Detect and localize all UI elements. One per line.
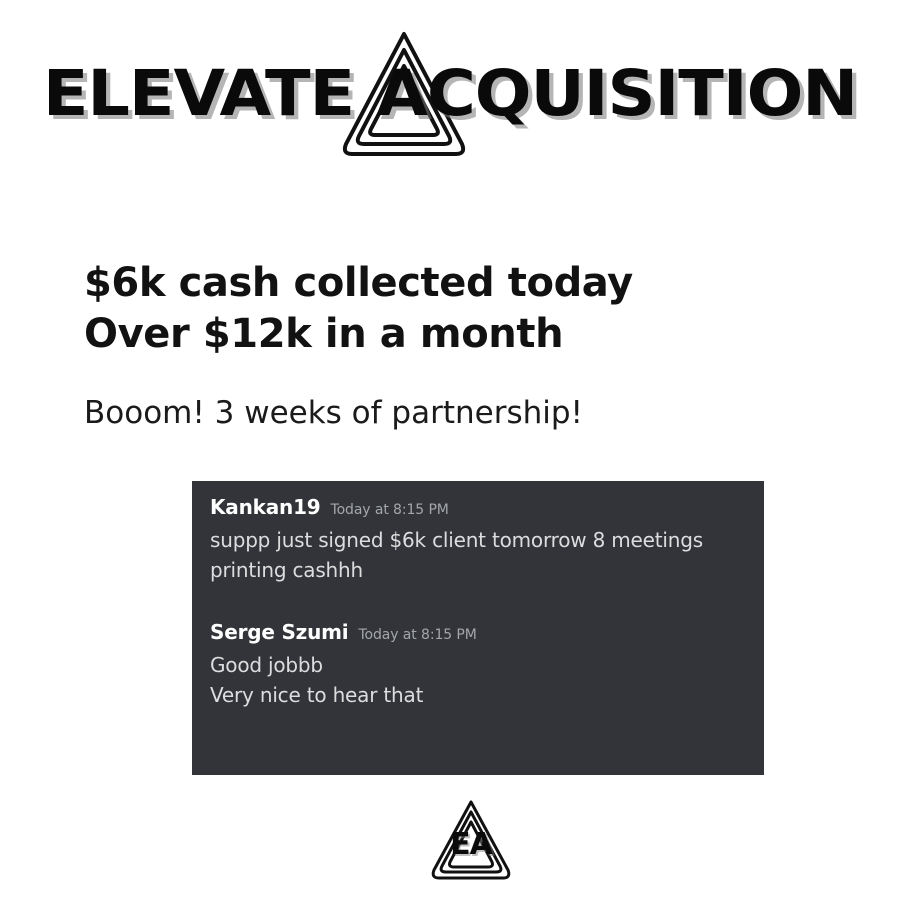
chat-message-group: Kankan19 Today at 8:15 PM suppp just sig… (210, 495, 746, 586)
headline: $6k cash collected today Over $12k in a … (84, 258, 633, 360)
chat-message-header: Kankan19 Today at 8:15 PM (210, 495, 746, 519)
chat-screenshot-panel: Kankan19 Today at 8:15 PM suppp just sig… (192, 481, 764, 775)
brand-wordmark: ELEVATE ACQUISITION (0, 62, 900, 125)
headline-line-1: $6k cash collected today (84, 258, 633, 309)
chat-message-line: Good jobbb (210, 650, 746, 680)
chat-author-name: Kankan19 (210, 495, 321, 519)
chat-message-line: suppp just signed $6k client tomorrow 8 … (210, 525, 746, 555)
headline-line-2: Over $12k in a month (84, 309, 633, 360)
brand-header: ELEVATE ACQUISITION (0, 0, 900, 190)
chat-timestamp: Today at 8:15 PM (358, 627, 476, 644)
footer-monogram: EA (428, 798, 514, 882)
chat-timestamp: Today at 8:15 PM (331, 502, 449, 519)
chat-message-line: printing cashhh (210, 555, 746, 585)
subheadline: Booom! 3 weeks of partnership! (84, 393, 583, 433)
chat-author-name: Serge Szumi (210, 620, 348, 644)
footer-brand-badge: EA (428, 798, 514, 882)
chat-message-line: Very nice to hear that (210, 680, 746, 710)
chat-message-group: Serge Szumi Today at 8:15 PM Good jobbb … (210, 620, 746, 711)
chat-message-header: Serge Szumi Today at 8:15 PM (210, 620, 746, 644)
